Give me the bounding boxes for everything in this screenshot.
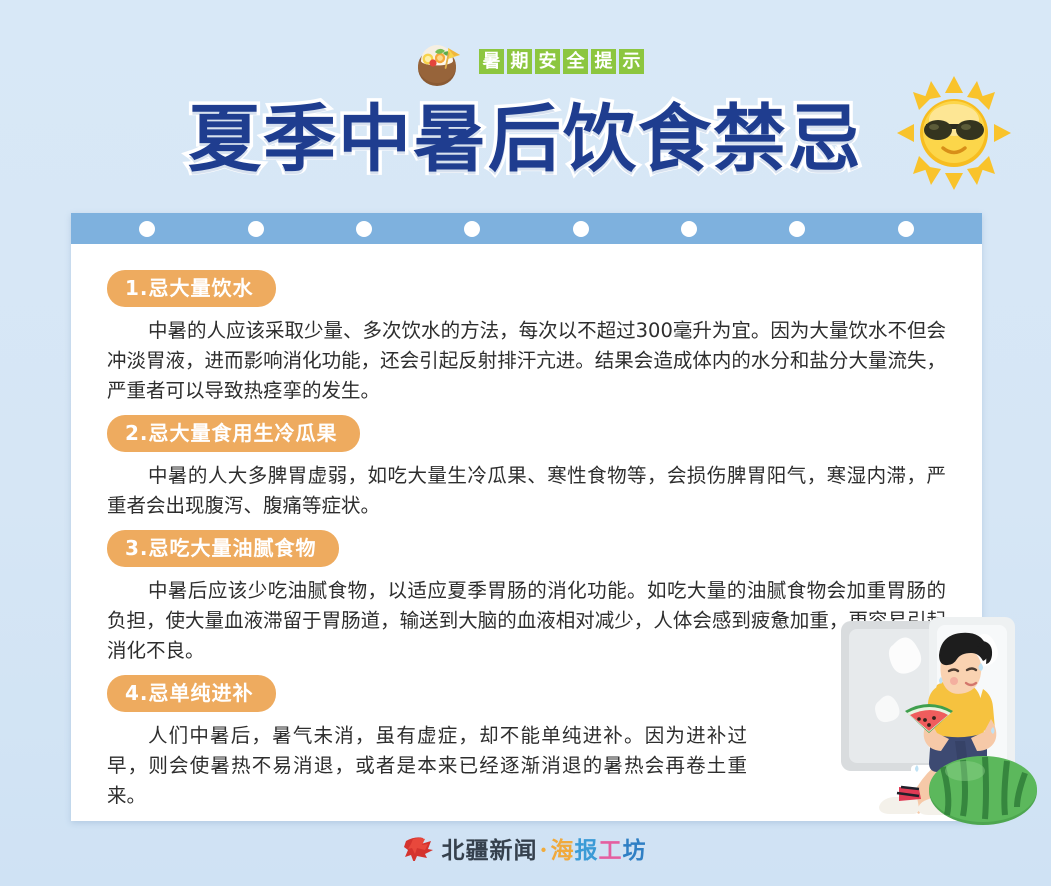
tag-char: 示 (619, 49, 644, 74)
tag-char: 期 (507, 49, 532, 74)
tip-body-4: 人们中暑后，暑气未消，虽有虚症，却不能单纯进补。因为进补过早，则会使暑热不易消退… (107, 721, 747, 811)
punch-hole (139, 221, 155, 237)
tag-char: 安 (535, 49, 560, 74)
tip-body-2: 中暑的人大多脾胃虚弱，如吃大量生冷瓜果、寒性食物等，会损伤脾胃阳气，寒湿内滞，严… (107, 461, 946, 521)
punch-hole (356, 221, 372, 237)
sun-with-sunglasses-icon (893, 72, 1015, 194)
footer-studio-char: 海 (551, 837, 575, 864)
punch-hole (789, 221, 805, 237)
punch-hole (898, 221, 914, 237)
punch-hole (573, 221, 589, 237)
tip-heading-2: 2.忌大量食用生冷瓜果 (107, 415, 360, 452)
tip-section-1: 1.忌大量饮水 中暑的人应该采取少量、多次饮水的方法，每次以不超过300毫升为宜… (107, 270, 946, 406)
footer-brand-text: 北疆新闻·海报工坊 (441, 831, 646, 865)
tip-section-4: 4.忌单纯进补 人们中暑后，暑气未消，虽有虚症，却不能单纯进补。因为进补过早，则… (107, 675, 946, 811)
card-header-bar (71, 213, 982, 244)
page-title: 夏季中暑后饮食禁忌 (188, 92, 863, 188)
footer-brand-name: 北疆新闻 (441, 837, 537, 864)
tip-section-2: 2.忌大量食用生冷瓜果 中暑的人大多脾胃虚弱，如吃大量生冷瓜果、寒性食物等，会损… (107, 415, 946, 521)
tag-char: 暑 (479, 49, 504, 74)
tag-char: 全 (563, 49, 588, 74)
tag-char: 提 (591, 49, 616, 74)
tip-heading-1: 1.忌大量饮水 (107, 270, 276, 307)
content-card: 1.忌大量饮水 中暑的人应该采取少量、多次饮水的方法，每次以不超过300毫升为宜… (71, 213, 982, 821)
tip-heading-3: 3.忌吃大量油腻食物 (107, 530, 339, 567)
tip-body-3: 中暑后应该少吃油腻食物，以适应夏季胃肠的消化功能。如吃大量的油腻食物会加重胃肠的… (107, 576, 946, 666)
tip-body-1: 中暑的人应该采取少量、多次饮水的方法，每次以不超过300毫升为宜。因为大量饮水不… (107, 316, 946, 406)
footer-studio-char: 报 (575, 837, 599, 864)
coconut-drink-icon (407, 28, 469, 90)
safety-tip-tag: 暑 期 安 全 提 示 (479, 49, 644, 74)
footer-logo: 北疆新闻·海报工坊 (0, 828, 1051, 868)
footer-separator: · (539, 837, 548, 864)
poster-canvas: 暑 期 安 全 提 示 夏季中暑后饮食禁忌 (0, 0, 1051, 886)
punch-hole (681, 221, 697, 237)
tip-section-3: 3.忌吃大量油腻食物 中暑后应该少吃油腻食物，以适应夏季胃肠的消化功能。如吃大量… (107, 530, 946, 666)
tip-heading-4: 4.忌单纯进补 (107, 675, 276, 712)
footer-studio-char: 坊 (623, 837, 647, 864)
punch-hole (464, 221, 480, 237)
footer-studio-char: 工 (599, 837, 623, 864)
boy-eating-watermelon-in-fridge-illustration (833, 615, 1048, 825)
red-brush-mark-icon (404, 835, 434, 861)
punch-hole (248, 221, 264, 237)
